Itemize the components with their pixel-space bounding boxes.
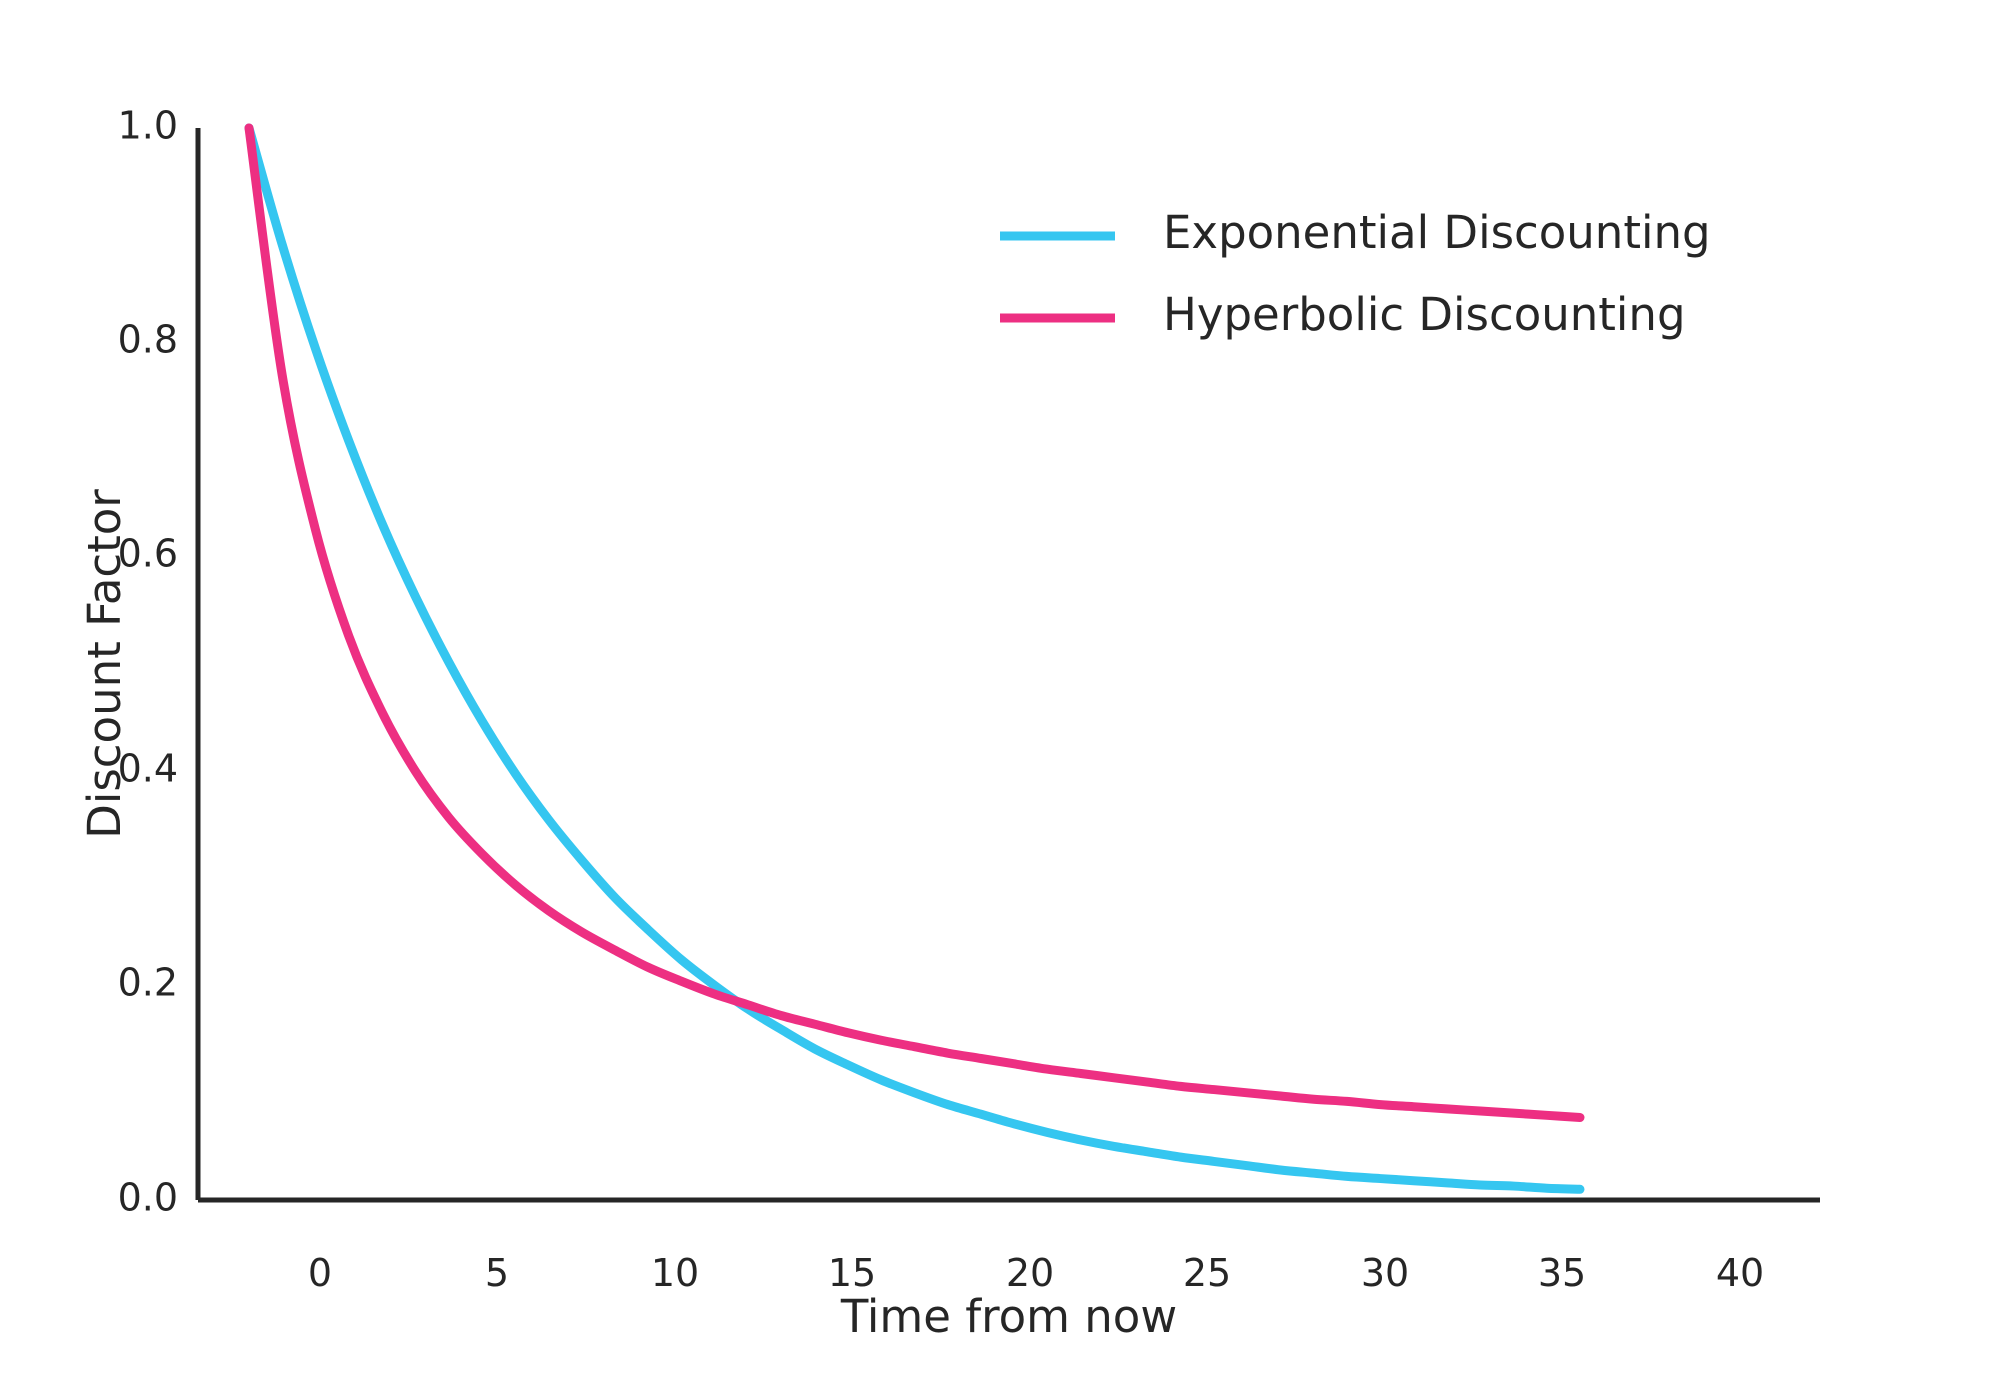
x-tick-label: 10 — [651, 1251, 699, 1295]
x-tick-label: 15 — [828, 1251, 876, 1295]
y-tick-label: 0.8 — [118, 318, 178, 362]
y-tick-label: 0.2 — [118, 961, 178, 1005]
x-tick-label: 40 — [1716, 1251, 1764, 1295]
x-tick-label: 35 — [1538, 1251, 1586, 1295]
x-tick-label: 30 — [1361, 1251, 1409, 1295]
legend: Exponential Discounting Hyperbolic Disco… — [1000, 206, 1711, 341]
chart-page: 0.0 0.2 0.4 0.6 0.8 1.0 0 5 10 15 20 25 … — [0, 0, 2000, 1375]
x-axis-title: Time from now — [840, 1290, 1177, 1343]
x-tick-labels: 0 5 10 15 20 25 30 35 40 — [308, 1251, 1764, 1295]
series-line-hyperbolic-discounting — [249, 128, 1580, 1117]
legend-label-hyperbolic-discounting: Hyperbolic Discounting — [1163, 288, 1686, 341]
y-tick-label: 0.0 — [118, 1176, 178, 1220]
x-tick-label: 25 — [1183, 1251, 1231, 1295]
y-tick-label: 1.0 — [118, 104, 178, 148]
x-tick-label: 5 — [485, 1251, 509, 1295]
x-tick-label: 0 — [308, 1251, 332, 1295]
figure-canvas: 0.0 0.2 0.4 0.6 0.8 1.0 0 5 10 15 20 25 … — [0, 0, 2000, 1375]
legend-label-exponential-discounting: Exponential Discounting — [1163, 206, 1711, 259]
x-tick-label: 20 — [1006, 1251, 1054, 1295]
discount-factor-line-chart: 0.0 0.2 0.4 0.6 0.8 1.0 0 5 10 15 20 25 … — [0, 0, 2000, 1375]
y-axis-title: Discount Factor — [78, 489, 131, 839]
